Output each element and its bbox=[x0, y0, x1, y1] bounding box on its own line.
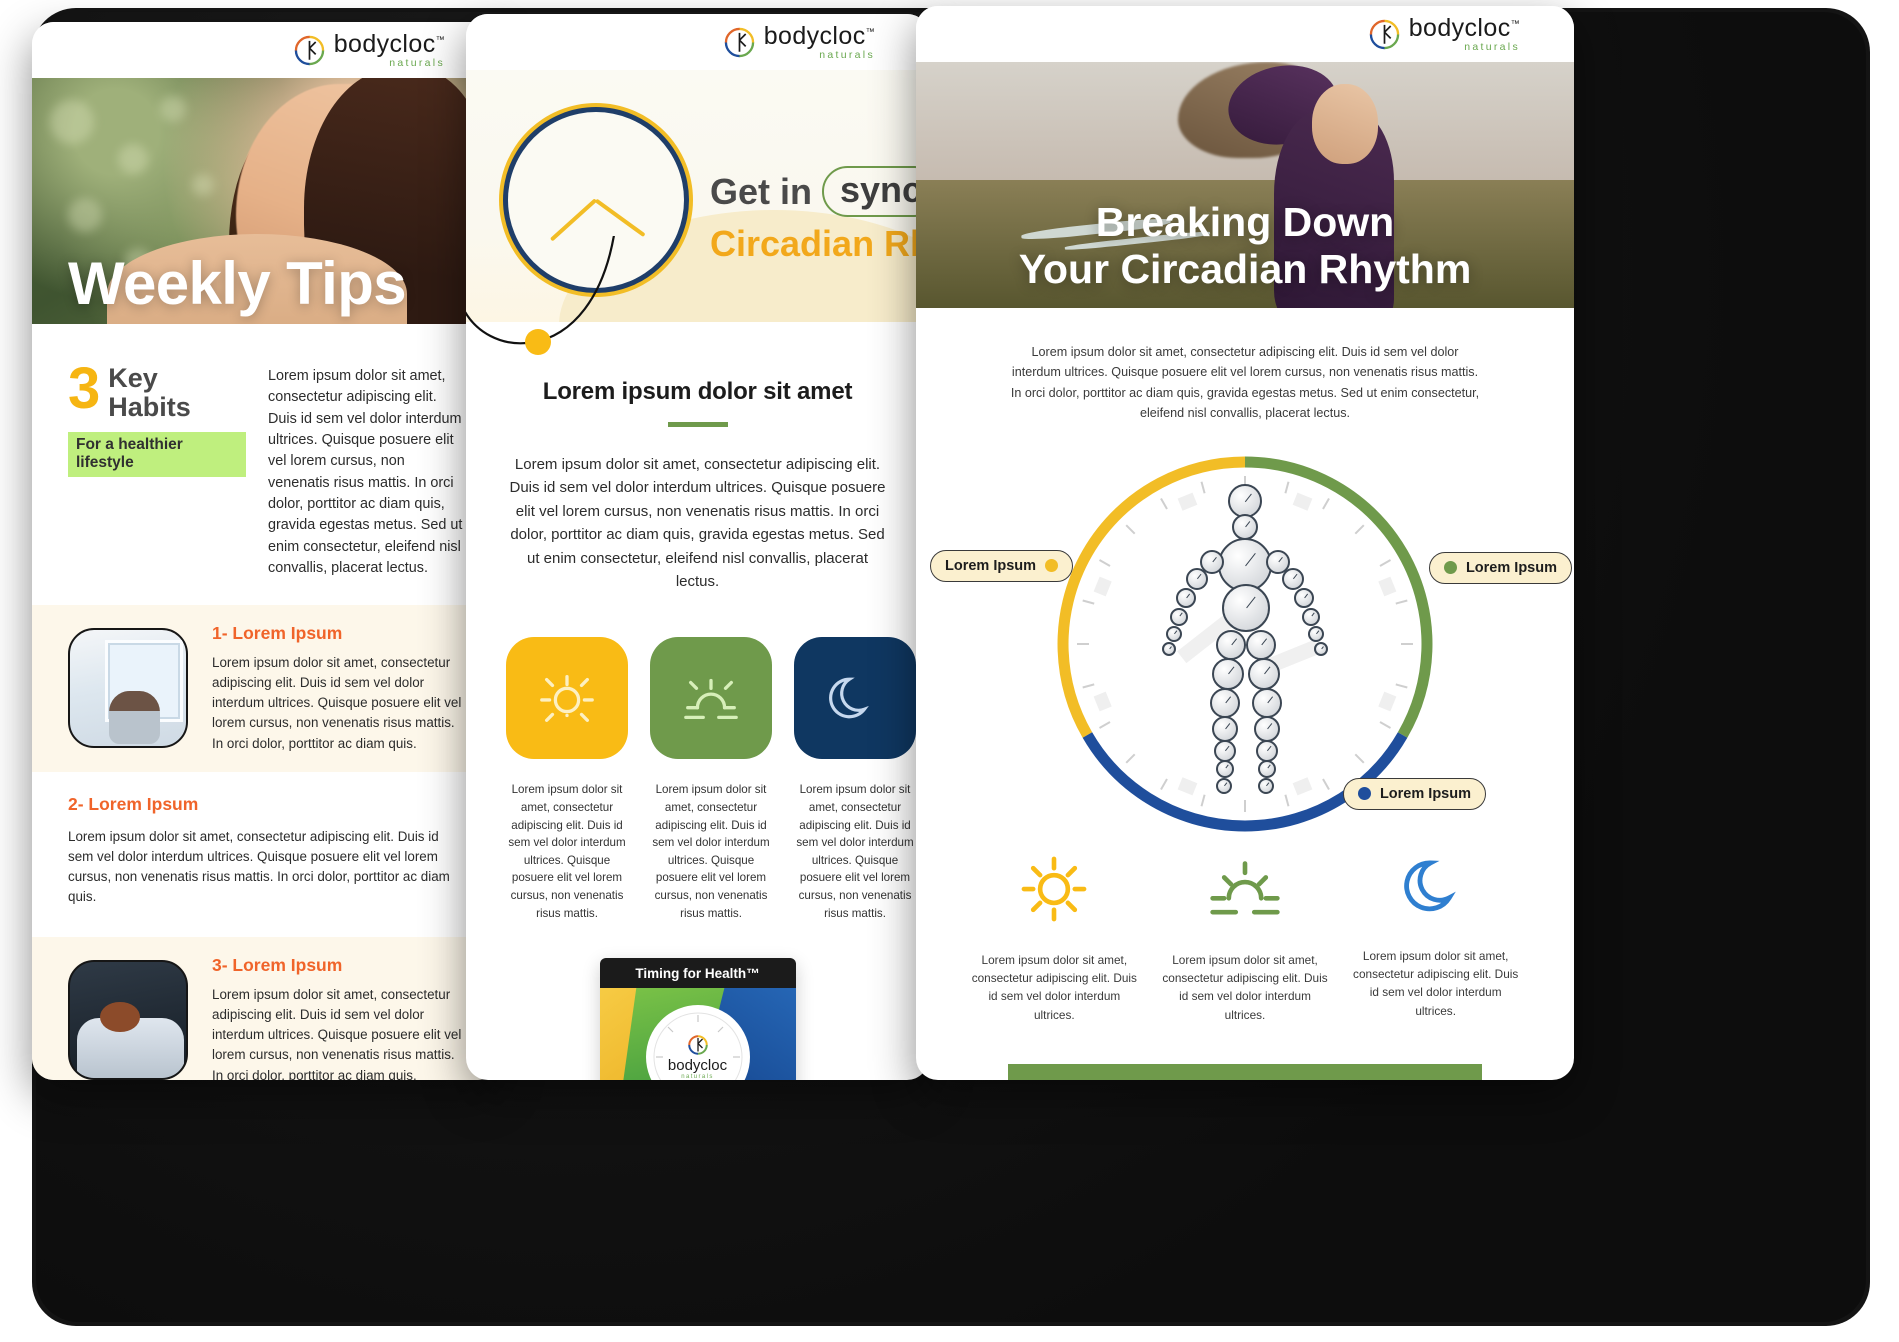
list-item-body: Lorem ipsum dolor sit amet, consectetur … bbox=[212, 653, 463, 754]
panel3-hero-image: Breaking Down Your Circadian Rhythm bbox=[916, 62, 1574, 308]
moon-icon bbox=[794, 637, 916, 759]
email-panel-get-in-sync[interactable]: bodycloc™ naturals Get in sync with Circ… bbox=[466, 14, 929, 1080]
dial-label-right-text: Lorem Ipsum bbox=[1466, 560, 1557, 576]
brand-logo[interactable]: bodycloc™ naturals bbox=[724, 24, 875, 61]
list-item-body: Lorem ipsum dolor sit amet, consectetur … bbox=[68, 827, 463, 907]
list-item-title: 3- Lorem Ipsum bbox=[212, 955, 463, 976]
panel1-intro-paragraph: Lorem ipsum dolor sit amet, consectetur … bbox=[268, 360, 463, 579]
email-panel-weekly-tips[interactable]: bodycloc™ naturals Weekly Tips bbox=[32, 22, 499, 1080]
key-habits-heading: 3 Key Habits For a healthier lifestyle bbox=[68, 360, 246, 579]
panel1-hero-title: Weekly Tips bbox=[68, 249, 406, 318]
key-habits-word-line2: Habits bbox=[108, 392, 191, 422]
key-habits-word-line1: Key bbox=[108, 363, 158, 393]
panel1-intro-block: 3 Key Habits For a healthier lifestyle L… bbox=[68, 360, 463, 579]
list-item[interactable]: 2- Lorem Ipsum Lorem ipsum dolor sit ame… bbox=[68, 772, 463, 911]
brand-logo-subtitle: naturals bbox=[1409, 42, 1520, 53]
icon-card-caption: Lorem ipsum dolor sit amet, consectetur … bbox=[1349, 947, 1522, 1021]
brand-logo-subtitle: naturals bbox=[764, 50, 875, 61]
email-panel-breaking-down[interactable]: bodycloc™ naturals Breaking Down Your Ci… bbox=[916, 6, 1574, 1080]
panel3-hero-title-line2: Your Circadian Rhythm bbox=[1019, 246, 1472, 292]
headline-sync-pill: sync bbox=[822, 166, 929, 217]
list-item-title: 1- Lorem Ipsum bbox=[212, 623, 463, 644]
list-item-body: Lorem ipsum dolor sit amet, consectetur … bbox=[212, 985, 463, 1080]
dial-label-right[interactable]: Lorem Ipsum bbox=[1429, 552, 1572, 584]
panel3-intro-paragraph: Lorem ipsum dolor sit amet, consectetur … bbox=[1008, 342, 1482, 424]
icon-card-caption: Lorem ipsum dolor sit amet, consectetur … bbox=[1159, 951, 1332, 1025]
key-habits-badge: For a healthier lifestyle bbox=[68, 432, 246, 477]
circadian-dial-diagram: Lorem Ipsum Lorem Ipsum Lorem Ipsum bbox=[916, 442, 1574, 846]
panel2-icon-cards: Lorem ipsum dolor sit amet, consectetur … bbox=[506, 637, 889, 922]
list-item[interactable]: 1- Lorem Ipsum Lorem ipsum dolor sit ame… bbox=[32, 605, 499, 772]
learn-more-button[interactable]: Learn More bbox=[1008, 1064, 1482, 1080]
panel1-content: 3 Key Habits For a healthier lifestyle L… bbox=[32, 324, 499, 1080]
brand-logo-subtitle: naturals bbox=[334, 58, 445, 69]
panel2-title-rule bbox=[668, 422, 728, 427]
icon-card-caption: Lorem ipsum dolor sit amet, consectetur … bbox=[650, 781, 772, 922]
sun-icon bbox=[1017, 913, 1091, 930]
woman-stretching-by-window-photo bbox=[68, 628, 188, 748]
headline-pre: Get in bbox=[710, 171, 812, 213]
panel2-content: Lorem ipsum dolor sit amet Lorem ipsum d… bbox=[466, 322, 929, 1080]
panel2-logo-bar: bodycloc™ naturals bbox=[466, 14, 929, 70]
panel1-hero-image: Weekly Tips bbox=[32, 78, 499, 324]
bodycloc-clock-mark-icon bbox=[294, 35, 325, 66]
brand-logo-word: bodycloc bbox=[334, 30, 436, 58]
icon-card-caption: Lorem ipsum dolor sit amet, consectetur … bbox=[794, 781, 916, 922]
icon-card-caption: Lorem ipsum dolor sit amet, consectetur … bbox=[968, 951, 1141, 1025]
dial-label-bottom[interactable]: Lorem Ipsum bbox=[1343, 778, 1486, 810]
panel2-section-title: Lorem ipsum dolor sit amet bbox=[506, 378, 889, 406]
brand-logo-text: bodycloc™ naturals bbox=[764, 24, 875, 61]
sun-icon bbox=[506, 637, 628, 759]
brand-logo-text: bodycloc™ naturals bbox=[334, 32, 445, 69]
brand-logo-text: bodycloc™ naturals bbox=[1409, 16, 1520, 53]
bodycloc-clock-mark-icon bbox=[724, 27, 755, 58]
product-top-banner: Timing for Health™ bbox=[600, 958, 796, 988]
icon-card[interactable]: Lorem ipsum dolor sit amet, consectetur … bbox=[968, 852, 1141, 1025]
dial-label-left-text: Lorem Ipsum bbox=[945, 558, 1036, 574]
brand-logo-tm: ™ bbox=[866, 26, 875, 36]
sunrise-icon bbox=[650, 637, 772, 759]
moon-icon bbox=[1401, 909, 1471, 926]
dial-dot-blue-icon bbox=[1358, 787, 1371, 800]
icon-card[interactable]: Lorem ipsum dolor sit amet, consectetur … bbox=[650, 637, 772, 922]
product-artwork: bodycloc naturals bbox=[600, 988, 796, 1080]
brand-logo-tm: ™ bbox=[436, 34, 445, 44]
list-item[interactable]: 3- Lorem Ipsum Lorem ipsum dolor sit ame… bbox=[32, 937, 499, 1080]
panel3-icon-row: Lorem ipsum dolor sit amet, consectetur … bbox=[916, 846, 1574, 1025]
icon-card[interactable]: Lorem ipsum dolor sit amet, consectetur … bbox=[1159, 852, 1332, 1025]
panel2-section-paragraph: Lorem ipsum dolor sit amet, consectetur … bbox=[506, 453, 889, 593]
panel3-hero-title: Breaking Down Your Circadian Rhythm bbox=[916, 199, 1574, 294]
woman-sleeping-in-bed-photo bbox=[68, 960, 188, 1080]
brand-logo[interactable]: bodycloc™ naturals bbox=[294, 32, 445, 69]
brand-logo-word: bodycloc bbox=[764, 22, 866, 50]
icon-card[interactable]: Lorem ipsum dolor sit amet, consectetur … bbox=[794, 637, 916, 922]
screenshot-root: bodycloc™ naturals Weekly Tips bbox=[0, 0, 1899, 1342]
panel3-hero-title-line1: Breaking Down bbox=[1096, 199, 1394, 245]
dial-label-bottom-text: Lorem Ipsum bbox=[1380, 786, 1471, 802]
panel3-logo-bar: bodycloc™ naturals bbox=[916, 6, 1574, 62]
human-body-made-of-clocks-illustration bbox=[1160, 484, 1330, 802]
brand-logo-tm: ™ bbox=[1511, 18, 1520, 28]
panel1-logo-bar: bodycloc™ naturals bbox=[32, 22, 499, 78]
dial-dot-yellow-icon bbox=[1045, 559, 1058, 572]
icon-card[interactable]: Lorem ipsum dolor sit amet, consectetur … bbox=[1349, 852, 1522, 1025]
product-pouch-image[interactable]: Timing for Health™ bbox=[506, 958, 889, 1080]
icon-card[interactable]: Lorem ipsum dolor sit amet, consectetur … bbox=[506, 637, 628, 922]
sunrise-icon bbox=[1208, 913, 1282, 930]
key-habits-number: 3 bbox=[68, 364, 100, 414]
panel3-content: Lorem ipsum dolor sit amet, consectetur … bbox=[916, 308, 1574, 424]
icon-card-caption: Lorem ipsum dolor sit amet, consectetur … bbox=[506, 781, 628, 922]
dial-label-left[interactable]: Lorem Ipsum bbox=[930, 550, 1073, 582]
bodycloc-clock-mark-icon bbox=[1369, 19, 1400, 50]
brand-logo-word: bodycloc bbox=[1409, 14, 1511, 42]
brand-logo[interactable]: bodycloc™ naturals bbox=[1369, 16, 1520, 53]
dial-dot-green-icon bbox=[1444, 561, 1457, 574]
list-item-title: 2- Lorem Ipsum bbox=[68, 794, 463, 815]
panel3-cta-wrap: Learn More bbox=[916, 1024, 1574, 1080]
decorative-swoosh bbox=[466, 236, 929, 366]
